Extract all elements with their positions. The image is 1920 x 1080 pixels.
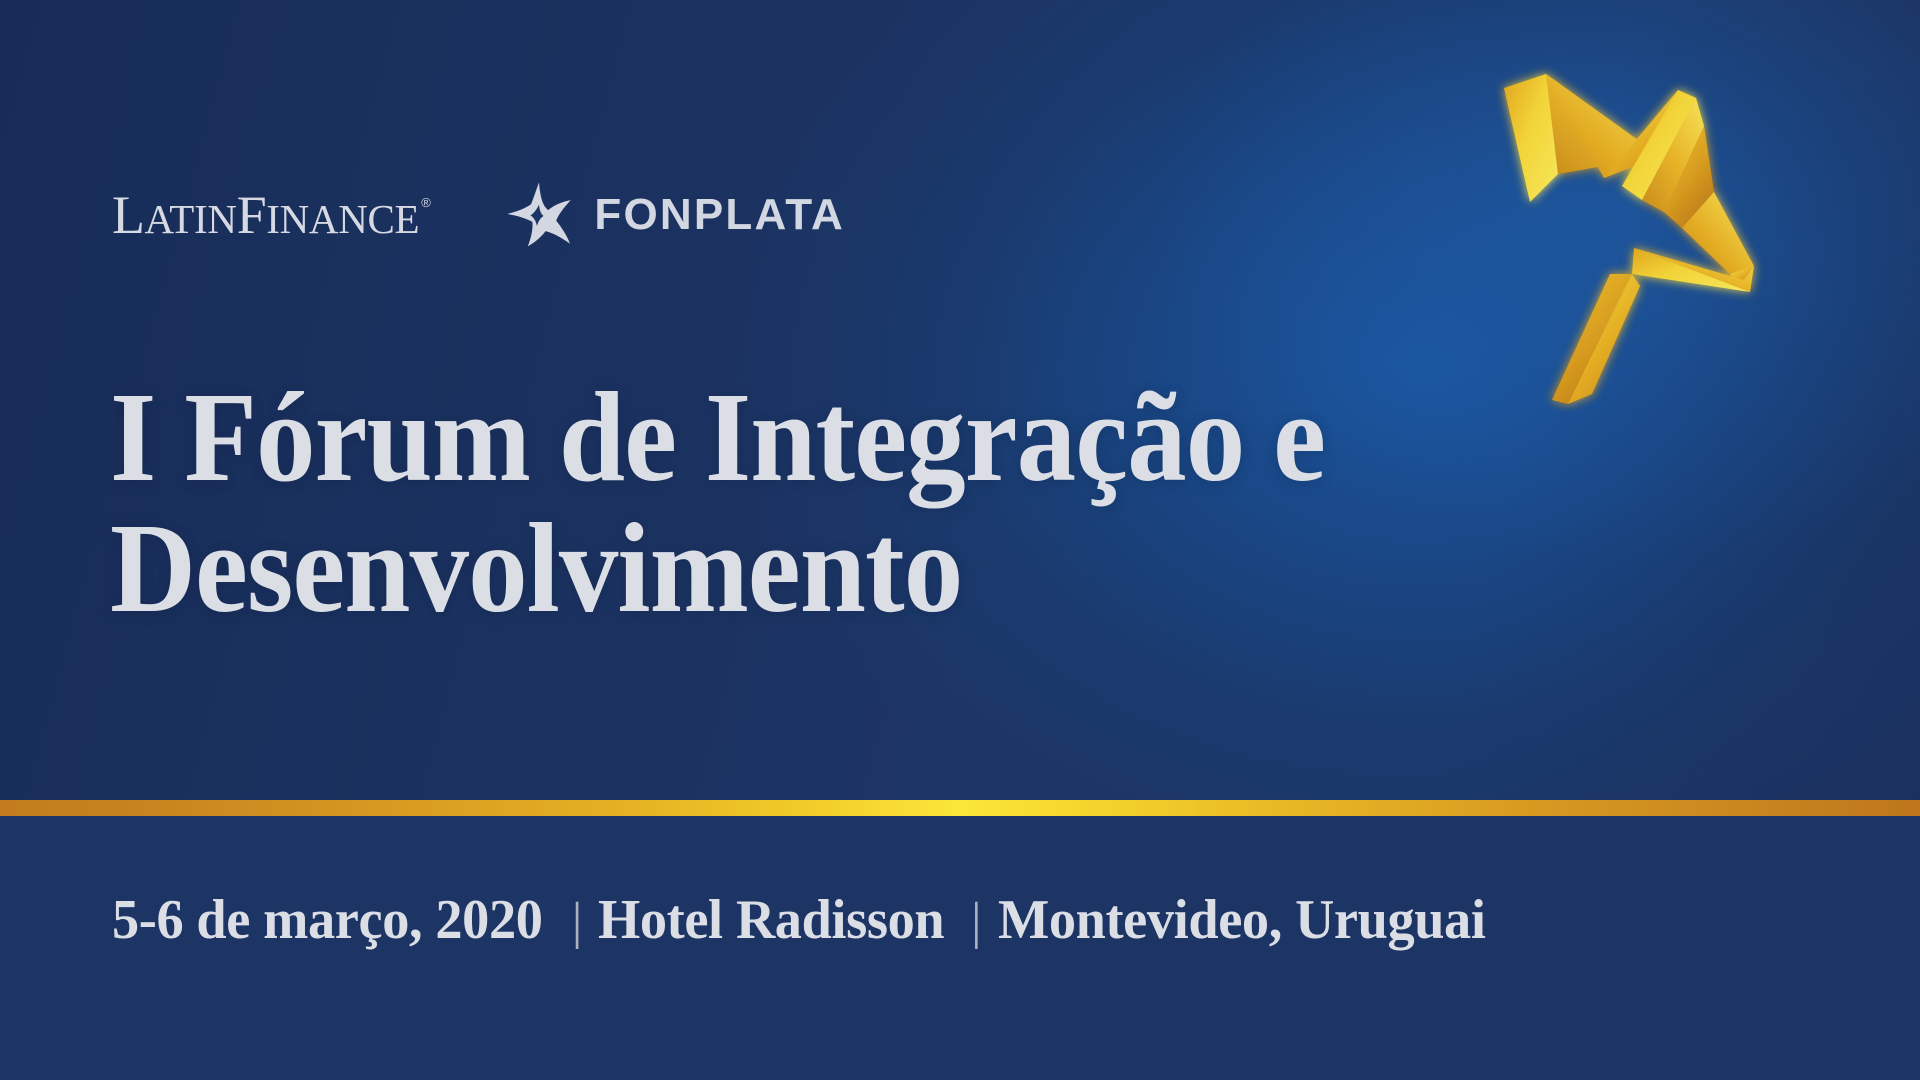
footer-separator-1: | bbox=[572, 896, 582, 948]
gold-divider-bar bbox=[0, 800, 1920, 816]
event-date: 5-6 de março, 2020 bbox=[112, 892, 542, 948]
gold-ribbon-star-icon bbox=[1482, 52, 1882, 412]
footer-separator-2: | bbox=[971, 896, 981, 948]
fonplata-wordmark: FONPLATA bbox=[594, 193, 845, 237]
event-venue: Hotel Radisson bbox=[598, 892, 944, 948]
latinfinance-f: F bbox=[237, 188, 267, 242]
footer-details: 5-6 de março, 2020 | Hotel Radisson | Mo… bbox=[112, 892, 1500, 948]
logo-row: LATINFINANCE® FONPLATA bbox=[112, 180, 845, 250]
fonplata-star-icon bbox=[506, 181, 572, 247]
registered-trademark-icon: ® bbox=[421, 196, 430, 209]
banner-top-section: LATINFINANCE® FONPLATA I Fórum de Integr… bbox=[0, 0, 1920, 800]
latinfinance-l: L bbox=[112, 188, 145, 242]
banner-footer: 5-6 de março, 2020 | Hotel Radisson | Mo… bbox=[0, 816, 1920, 1080]
event-banner: LATINFINANCE® FONPLATA I Fórum de Integr… bbox=[0, 0, 1920, 1080]
latinfinance-logo[interactable]: LATINFINANCE® bbox=[112, 188, 428, 242]
event-title: I Fórum de Integração e Desenvolvimento bbox=[110, 372, 1530, 633]
event-title-line-2: Desenvolvimento bbox=[110, 503, 1431, 634]
latinfinance-atin: ATIN bbox=[145, 199, 237, 240]
fonplata-logo[interactable]: FONPLATA bbox=[506, 183, 845, 247]
latinfinance-inance: INANCE bbox=[266, 199, 419, 240]
event-location: Montevideo, Uruguai bbox=[998, 892, 1486, 948]
event-title-line-1: I Fórum de Integração e bbox=[110, 372, 1431, 503]
